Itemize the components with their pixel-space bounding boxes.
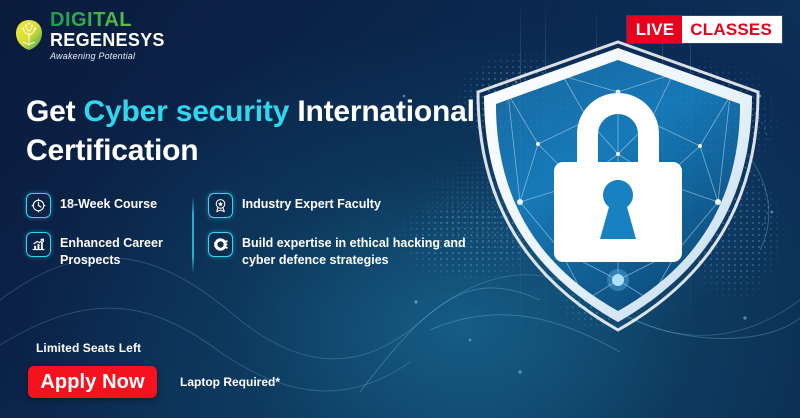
- feature-label: Build expertise in ethical hacking and c…: [242, 232, 488, 268]
- growth-chart-icon: [26, 232, 51, 257]
- gear-network-icon: [208, 232, 233, 257]
- features-section: 18-Week Course Enhanced Career Prospects: [26, 193, 486, 279]
- headline-part-1: Get: [26, 95, 84, 128]
- logo-name-primary: DIGITAL: [50, 10, 165, 30]
- feature-item: Industry Expert Faculty: [208, 193, 488, 218]
- clock-icon: [26, 193, 51, 218]
- award-badge-icon: [208, 193, 233, 218]
- column-divider: [192, 197, 194, 273]
- badge-classes-label: CLASSES: [682, 16, 782, 43]
- limited-seats-text: Limited Seats Left: [36, 341, 141, 355]
- logo-name-secondary: REGENESYS: [50, 31, 165, 49]
- feature-label: Industry Expert Faculty: [242, 193, 381, 213]
- feature-label: 18-Week Course: [60, 193, 157, 213]
- features-column-left: 18-Week Course Enhanced Career Prospects: [26, 193, 191, 282]
- feature-label: Enhanced Career Prospects: [60, 232, 191, 268]
- headline-highlight: Cyber security: [84, 95, 290, 128]
- feature-item: 18-Week Course: [26, 193, 191, 218]
- apply-now-button[interactable]: Apply Now: [28, 366, 157, 398]
- shield-padlock-artwork: [468, 34, 768, 334]
- tree-emblem-icon: [14, 19, 44, 51]
- headline: Get Cyber security International Certifi…: [26, 92, 496, 170]
- feature-item: Enhanced Career Prospects: [26, 232, 191, 268]
- features-column-right: Industry Expert Faculty: [208, 193, 488, 282]
- brand-logo[interactable]: DIGITAL REGENESYS Awakening Potential: [14, 10, 164, 60]
- logo-wordmark: DIGITAL REGENESYS Awakening Potential: [50, 10, 165, 61]
- logo-tagline: Awakening Potential: [50, 52, 165, 61]
- feature-item: Build expertise in ethical hacking and c…: [208, 232, 488, 268]
- live-classes-badge: LIVE CLASSES: [627, 16, 782, 43]
- badge-live-label: LIVE: [627, 16, 683, 43]
- cyber-security-banner: DIGITAL REGENESYS Awakening Potential LI…: [0, 0, 800, 418]
- laptop-required-note: Laptop Required*: [180, 375, 280, 389]
